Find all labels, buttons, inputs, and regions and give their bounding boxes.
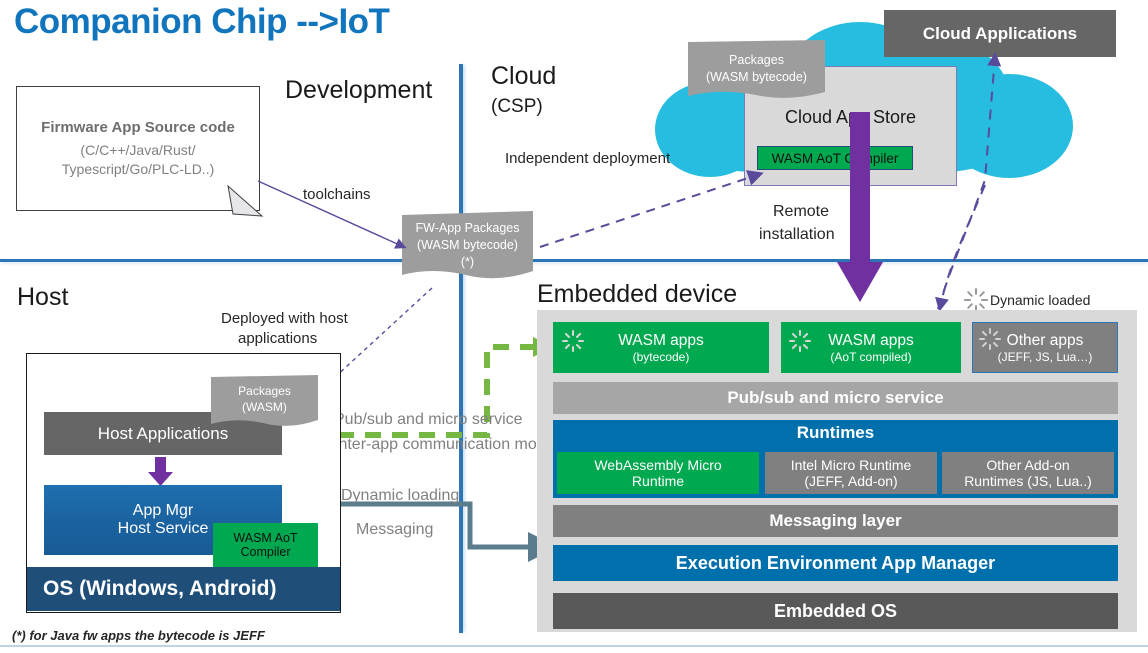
heading-embedded-device: Embedded device [537,280,737,309]
embedded-runtime-2-line2: Runtimes (JS, Lua..) [964,473,1092,489]
firmware-callout-line1: Firmware App Source code [41,119,235,136]
embedded-messaging-layer-label: Messaging layer [769,511,901,531]
embedded-runtime-1-line2: (JEFF, Add-on) [804,473,897,489]
embedded-app-2-sub: (JEFF, JS, Lua…) [998,350,1093,364]
label-deployed-with-host-line1: Deployed with host [221,310,348,327]
cloud-packages-line1: Packages [688,52,825,69]
embedded-app-2-spinner-icon [979,328,1001,350]
host-packages-line1: Packages [211,383,318,399]
embedded-os-box[interactable]: Embedded OS [553,593,1118,629]
label-independent-deployment: Independent deployment [505,150,670,167]
embedded-runtime-box-1[interactable]: Intel Micro Runtime (JEFF, Add-on) [765,452,937,494]
embedded-runtime-1-line1: Intel Micro Runtime [791,457,912,473]
page-title: Companion Chip -->IoT [14,2,389,42]
embedded-runtime-0-line1: WebAssembly Micro [594,457,721,473]
embedded-pubsub-box[interactable]: Pub/sub and micro service [553,382,1118,414]
embedded-pubsub-label: Pub/sub and micro service [727,388,943,408]
firmware-source-callout: Firmware App Source code (C/C++/Java/Rus… [16,86,260,211]
dynamic-loaded-spinner-icon [964,288,988,312]
host-packages-callout-text: Packages (WASM) [211,383,318,415]
embedded-app-0-sub: (bytecode) [633,350,690,364]
heading-host: Host [17,283,68,312]
host-os-box[interactable]: OS (Windows, Android) [27,567,340,611]
host-app-mgr-line1: App Mgr [133,502,193,520]
cloud-applications-box[interactable]: Cloud Applications [884,10,1116,57]
divider-horizontal-top [0,259,1148,262]
host-packages-line2: (WASM) [211,399,318,415]
embedded-app-manager-label: Execution Environment App Manager [676,553,995,574]
footnote: (*) for Java fw apps the bytecode is JEF… [12,628,265,643]
host-internal-arrow [148,457,174,487]
embedded-app-2-name: Other apps [1007,332,1084,350]
label-dynamic-loaded: Dynamic loaded [990,292,1090,308]
embedded-app-manager-box[interactable]: Execution Environment App Manager [553,545,1118,581]
fw-packages-line1: FW-App Packages [402,220,533,237]
divider-horizontal-bottom [0,645,1148,647]
embedded-app-0-name: WASM apps [618,332,704,350]
embedded-messaging-layer-box[interactable]: Messaging layer [553,505,1118,537]
label-pubsub-micro-service: Pub/sub and micro service [334,411,523,429]
embedded-runtime-2-line1: Other Add-on [986,457,1069,473]
label-deployed-with-host-line2: applications [238,330,317,347]
host-wasm-aot-compiler-box[interactable]: WASM AoT Compiler [213,523,318,567]
embedded-app-1-name: WASM apps [828,332,914,350]
host-aot-line2: Compiler [240,545,290,559]
embedded-app-1-sub: (AoT compiled) [830,350,911,364]
fw-app-packages-text: FW-App Packages (WASM bytecode) (*) [402,220,533,271]
host-applications-label: Host Applications [98,424,228,444]
embedded-runtime-box-2[interactable]: Other Add-on Runtimes (JS, Lua..) [942,452,1114,494]
label-messaging: Messaging [356,521,433,539]
cloud-wasm-aot-compiler-box[interactable]: WASM AoT Compiler [757,146,913,170]
embedded-runtime-box-0[interactable]: WebAssembly Micro Runtime [557,452,759,494]
host-os-label: OS (Windows, Android) [43,577,277,601]
embedded-app-1-spinner-icon [789,330,811,352]
label-inter-app-communication: Inter-app communication models [334,436,566,454]
label-toolchains: toolchains [303,186,371,203]
host-app-mgr-line2: Host Service [118,520,209,538]
label-remote-installation-line2: installation [759,226,835,244]
cloud-packages-line2: (WASM bytecode) [688,69,825,86]
cloud-applications-label: Cloud Applications [923,24,1077,44]
firmware-callout-line3: Typescript/Go/PLC-LD..) [62,160,215,179]
host-aot-line1: WASM AoT [233,531,297,545]
embedded-app-0-spinner-icon [562,330,584,352]
heading-cloud-sub: (CSP) [491,96,543,118]
remote-installation-arrow [836,112,884,312]
embedded-app-box-0[interactable]: WASM apps (bytecode) [553,322,769,373]
heading-development: Development [285,76,432,105]
firmware-callout-tail [228,186,268,220]
diagram-canvas: Companion Chip -->IoT Development Cloud … [0,0,1148,653]
cloud-packages-callout-text: Packages (WASM bytecode) [688,52,825,86]
firmware-callout-line2: (C/C++/Java/Rust/ [80,141,195,160]
label-remote-installation-line1: Remote [773,203,829,221]
heading-cloud: Cloud [491,62,556,91]
label-dynamic-loading: Dynamic loading [341,487,459,505]
embedded-runtime-0-line2: Runtime [632,473,684,489]
embedded-os-label: Embedded OS [774,601,897,622]
fw-packages-line2: (WASM bytecode) [402,237,533,254]
embedded-runtimes-title: Runtimes [797,423,874,443]
divider-vertical [459,64,463,633]
fw-packages-line3: (*) [402,254,533,271]
